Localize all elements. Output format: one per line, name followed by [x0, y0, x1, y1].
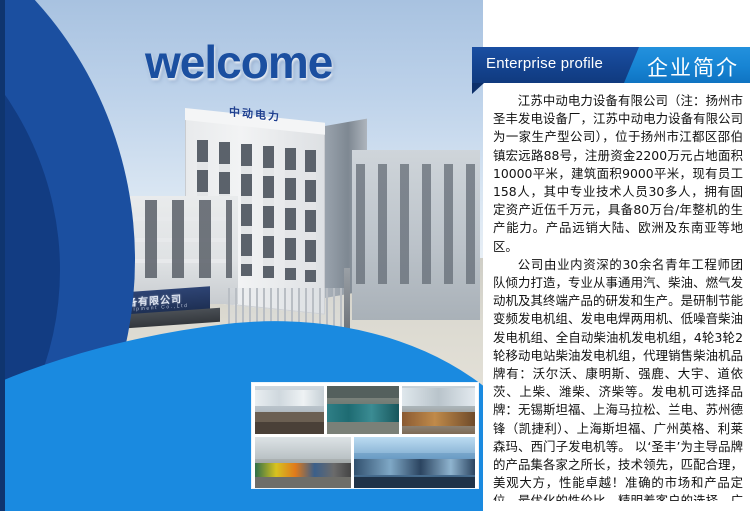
photo-sales-office [402, 386, 475, 434]
banner-english-label: Enterprise profile [486, 55, 603, 72]
right-wing-windows [356, 164, 476, 284]
panel-bottom-padding [483, 501, 750, 511]
profile-content-panel: Enterprise profile 企业简介 江苏中动电力设备有限公司（注：扬… [483, 0, 750, 511]
gate-post [344, 268, 350, 332]
tower-window-column [305, 150, 316, 282]
company-profile-text: 江苏中动电力设备有限公司（注：扬州市圣丰发电设备厂，江苏中动电力设备有限公司为一… [493, 92, 743, 511]
photo-generator-workshop [327, 386, 398, 434]
profile-paragraph-1: 江苏中动电力设备有限公司（注：扬州市圣丰发电设备厂，江苏中动电力设备有限公司为一… [493, 92, 743, 256]
banner-chinese-label: 企业简介 [647, 52, 739, 82]
photo-conference-room [354, 437, 475, 488]
photo-office-meeting [255, 386, 324, 434]
left-edge-strip [0, 0, 5, 511]
welcome-headline: welcome [145, 35, 332, 89]
banner-tail-triangle [472, 83, 484, 94]
photo-gallery [252, 383, 478, 488]
tower-window-column [285, 148, 296, 280]
hero-image-panel: 中动电力 扬州中动电力设备有限公司 Zhongdong Power Equipm… [0, 0, 483, 511]
company-profile-page: 中动电力 扬州中动电力设备有限公司 Zhongdong Power Equipm… [0, 0, 750, 511]
profile-paragraph-2: 公司由业内资深的30余名青年工程师团队倾力打造，专业从事通用汽、柴油、燃气发动机… [493, 256, 743, 511]
enterprise-profile-banner: Enterprise profile 企业简介 [472, 47, 750, 83]
photo-assembly-line [255, 437, 351, 488]
tower-window-column [263, 146, 274, 278]
tower-window-column [241, 144, 252, 276]
gallery-row-bottom [255, 437, 475, 488]
gallery-row-top [255, 386, 475, 434]
